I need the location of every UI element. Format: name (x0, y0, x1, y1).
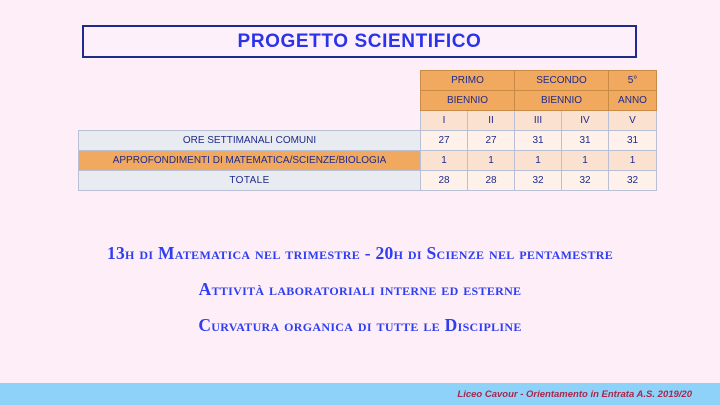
footer-bar: Liceo Cavour - Orientamento in Entrata A… (0, 383, 720, 405)
row-label-ore-settimanali-comuni: ORE SETTIMANALI COMUNI (79, 131, 421, 151)
row-label-approfondimenti: APPROFONDIMENTI DI MATEMATICA/SCIENZE/BI… (79, 151, 421, 171)
group-header-primo-biennio: PRIMO (421, 71, 515, 91)
slide-title-box: PROGETTO SCIENTIFICO (82, 25, 637, 58)
cell-totale-iv: 32 (562, 171, 609, 191)
cell-totale-iii: 32 (515, 171, 562, 191)
table-row: APPROFONDIMENTI DI MATEMATICA/SCIENZE/BI… (79, 151, 657, 171)
table-header-row-years: I II III IV V (79, 111, 657, 131)
group-header-line2: ANNO (618, 95, 647, 106)
group-header-secondo-biennio-line2: BIENNIO (515, 91, 609, 111)
cell-ore-iii: 31 (515, 131, 562, 151)
cell-ore-ii: 27 (468, 131, 515, 151)
year-header-iii: III (515, 111, 562, 131)
schedule-table: PRIMO SECONDO 5° BIENNIO BIENNIO ANNO I … (78, 70, 657, 191)
group-header-line1: SECONDO (536, 75, 587, 86)
page-title: PROGETTO SCIENTIFICO (238, 31, 482, 53)
cell-totale-ii: 28 (468, 171, 515, 191)
statements-block: 13h di Matematica nel trimestre - 20h di… (0, 243, 720, 351)
cell-ore-v: 31 (609, 131, 657, 151)
group-header-secondo-biennio: SECONDO (515, 71, 609, 91)
year-header-i: I (421, 111, 468, 131)
cell-appr-iv: 1 (562, 151, 609, 171)
cell-ore-i: 27 (421, 131, 468, 151)
cell-ore-iv: 31 (562, 131, 609, 151)
row-label-totale: TOTALE (79, 171, 421, 191)
table-header-row-groups: PRIMO SECONDO 5° (79, 71, 657, 91)
group-header-quinto-anno: 5° (609, 71, 657, 91)
cell-appr-i: 1 (421, 151, 468, 171)
group-header-line2: BIENNIO (447, 95, 488, 106)
cell-totale-v: 32 (609, 171, 657, 191)
cell-appr-v: 1 (609, 151, 657, 171)
year-header-ii: II (468, 111, 515, 131)
statement-line-2: Attività laboratoriali interne ed estern… (0, 279, 720, 300)
group-header-line2: BIENNIO (541, 95, 582, 106)
cell-appr-iii: 1 (515, 151, 562, 171)
year-header-iv: IV (562, 111, 609, 131)
group-header-line1: 5° (628, 75, 638, 86)
cell-appr-ii: 1 (468, 151, 515, 171)
year-header-v: V (609, 111, 657, 131)
group-header-primo-biennio-line2: BIENNIO (421, 91, 515, 111)
statement-line-1: 13h di Matematica nel trimestre - 20h di… (0, 243, 720, 264)
header-spacer-years (79, 111, 421, 131)
statement-line-3: Curvatura organica di tutte le Disciplin… (0, 315, 720, 336)
table-header: PRIMO SECONDO 5° BIENNIO BIENNIO ANNO I … (79, 71, 657, 131)
group-header-line1: PRIMO (451, 75, 484, 86)
table-row: TOTALE 28 28 32 32 32 (79, 171, 657, 191)
cell-totale-i: 28 (421, 171, 468, 191)
footer-text: Liceo Cavour - Orientamento in Entrata A… (457, 389, 720, 400)
group-header-quinto-anno-line2: ANNO (609, 91, 657, 111)
table-body: ORE SETTIMANALI COMUNI 27 27 31 31 31 AP… (79, 131, 657, 191)
table-row: ORE SETTIMANALI COMUNI 27 27 31 31 31 (79, 131, 657, 151)
header-spacer (79, 71, 421, 111)
